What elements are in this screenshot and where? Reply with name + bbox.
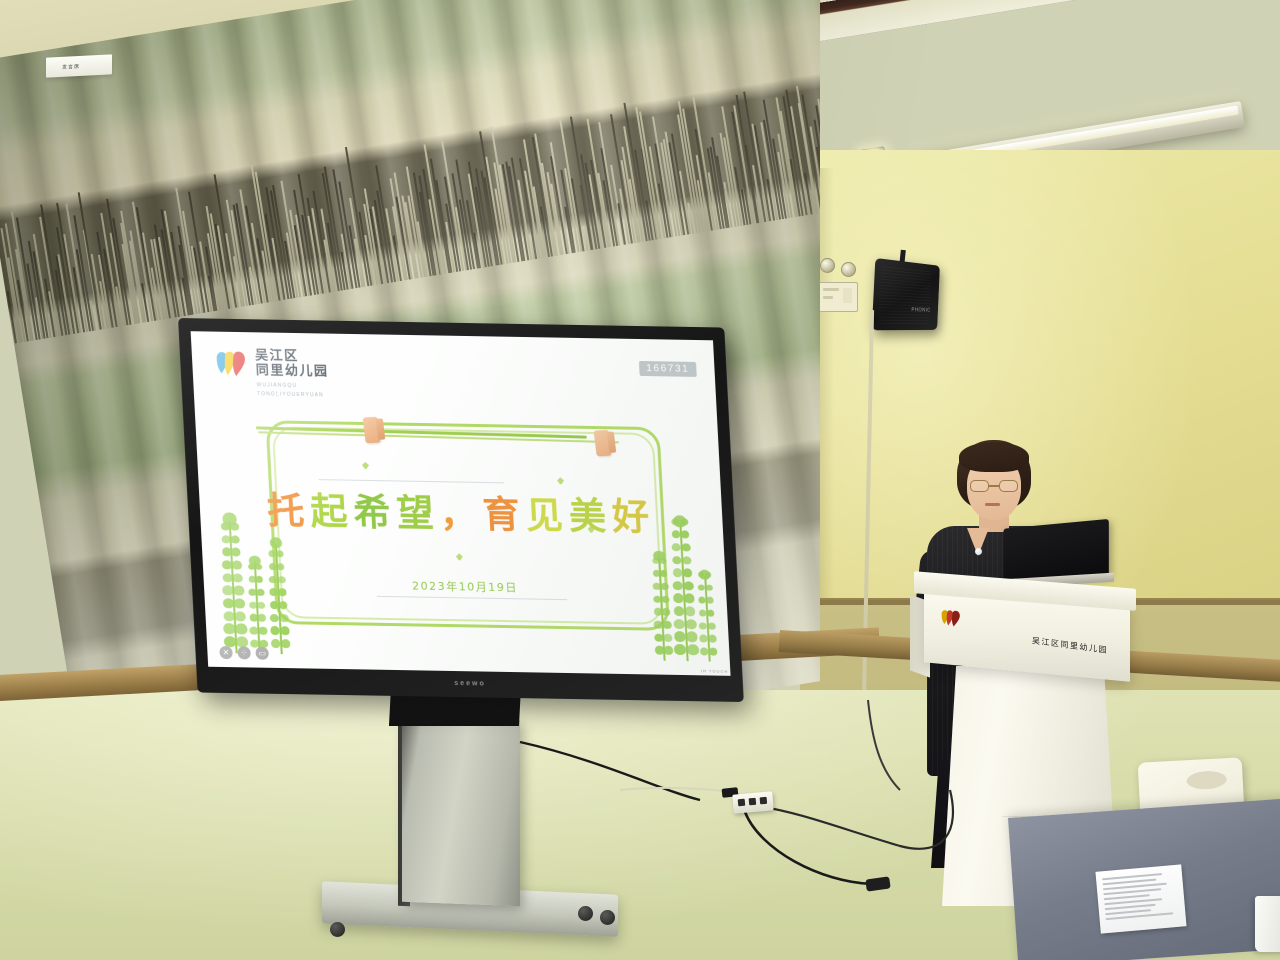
plant-leaf — [257, 601, 265, 608]
glasses-bridge — [989, 485, 999, 487]
slide-clip-right — [594, 430, 612, 457]
plant-leaf — [280, 626, 290, 635]
plant-leaf — [269, 563, 277, 570]
plant-leaf — [223, 598, 234, 608]
plant-leaf — [248, 589, 256, 596]
display-stand-column — [402, 716, 520, 907]
plant-leaf — [249, 601, 257, 608]
plant-leaf — [277, 576, 285, 584]
plant-leaf — [662, 608, 671, 616]
plant-leaf — [683, 581, 694, 590]
plant-leaf-top — [653, 550, 665, 561]
plant-leaf — [672, 568, 682, 577]
plant-leaf — [281, 639, 291, 648]
logo-line-2: 同里幼儿园 — [255, 364, 328, 381]
plant-leaf — [661, 595, 669, 602]
plant-leaf — [233, 586, 244, 596]
glasses-lens-right — [999, 480, 1018, 492]
plant-leaf — [664, 646, 674, 655]
plant-leaf — [680, 531, 689, 539]
plant-leaf — [653, 608, 662, 616]
paper-cup — [1255, 896, 1280, 952]
plant-leaf — [231, 548, 241, 557]
placard-text: 发言席 — [62, 63, 80, 71]
plant-leaf — [222, 548, 232, 557]
speaker-placard: 发言席 — [46, 54, 112, 77]
power-strip[interactable] — [732, 791, 774, 813]
plant-leaf — [258, 614, 267, 622]
plant-leaf — [686, 632, 698, 643]
plant-leaf — [249, 614, 258, 622]
wall-control-plate[interactable] — [818, 282, 858, 312]
interactive-display-panel[interactable]: 吴江区 同里幼儿园 WUJIANGQU TONGLIYOUERYUAN 1667… — [178, 318, 744, 702]
plant-leaf — [674, 631, 686, 642]
plant-leaf — [653, 583, 661, 590]
slide-plant-sprig — [650, 557, 673, 661]
plant-leaf — [663, 634, 672, 642]
presenter-pendant — [975, 548, 982, 555]
slide-title-char-6: 见 — [525, 494, 570, 538]
plant-leaf — [235, 611, 247, 622]
plant-leaf — [707, 610, 715, 617]
plant-leaf — [684, 594, 695, 604]
kindergarten-heart-logo-icon — [214, 348, 250, 380]
plant-leaf — [687, 644, 700, 655]
slide-plant-sprig — [669, 523, 697, 661]
plant-leaf — [269, 601, 278, 609]
plant-leaf — [661, 583, 669, 590]
stand-caster-mid — [578, 906, 593, 921]
slide-plant-sprig — [219, 521, 248, 653]
slide-toolbar[interactable]: ✕⁘▭ — [219, 646, 269, 660]
plant-leaf — [270, 626, 280, 635]
plant-leaf — [258, 627, 267, 635]
plant-leaf — [222, 560, 232, 569]
slide-logo: 吴江区 同里幼儿园 WUJIANGQU TONGLIYOUERYUAN — [214, 348, 330, 400]
slide-close-icon[interactable]: ✕ — [219, 646, 233, 659]
plant-leaf — [277, 563, 285, 570]
plant-leaf — [276, 550, 284, 557]
glasses-lens-left — [970, 480, 989, 492]
wall-speaker: PHONIC — [872, 258, 940, 330]
plant-leaf — [660, 570, 668, 577]
plant-leaf — [681, 543, 690, 551]
plant-leaf — [221, 535, 230, 543]
display-ir-label: IR TOUCH — [701, 668, 729, 673]
glasses-icon — [970, 480, 1018, 492]
slide-title-char-7: 美 — [568, 494, 613, 538]
plant-leaf — [222, 586, 233, 596]
plant-leaf — [672, 530, 681, 538]
plant-leaf — [268, 550, 276, 557]
presenter-mouth — [985, 503, 1000, 506]
plant-leaf — [673, 606, 684, 616]
plant-leaf — [234, 598, 245, 608]
table-document — [1095, 864, 1186, 933]
plant-leaf — [233, 573, 244, 582]
plant-leaf — [673, 581, 684, 590]
slide-title-char-5: 育 — [482, 493, 527, 537]
plant-leaf — [232, 561, 242, 570]
plant-leaf — [698, 584, 705, 590]
podium-logo-icon — [940, 607, 962, 629]
plant-leaf — [706, 597, 714, 604]
plant-leaf — [707, 622, 715, 629]
plant-leaf — [700, 648, 709, 656]
plant-stem — [274, 544, 282, 654]
plant-leaf — [682, 556, 692, 565]
slide-title-char-4: ， — [438, 492, 483, 536]
document-text-line — [1103, 888, 1161, 895]
slide-plants-right — [648, 523, 717, 662]
plant-leaf — [256, 576, 264, 583]
plant-leaf — [270, 639, 280, 648]
plant-leaf-top — [269, 537, 282, 548]
wall-gauge-2 — [841, 262, 856, 277]
slide-number-badge: 166731 — [639, 361, 697, 377]
plant-leaf — [278, 588, 287, 596]
plant-leaf — [223, 611, 235, 622]
plant-leaf — [256, 589, 264, 596]
chair-handle-cutout — [1186, 770, 1227, 790]
display-bezel: 吴江区 同里幼儿园 WUJIANGQU TONGLIYOUERYUAN 1667… — [178, 318, 744, 702]
stand-caster-right — [600, 910, 615, 925]
plant-leaf — [653, 595, 661, 602]
logo-pinyin-2: TONGLIYOUERYUAN — [257, 392, 330, 400]
slide-palette-icon[interactable]: ⁘ — [237, 646, 251, 659]
slide-title-char-3: 望 — [395, 491, 440, 535]
room-photo: PHONIC — [0, 0, 1280, 960]
logo-line-1: 吴江区 — [255, 348, 328, 365]
plant-leaf — [699, 622, 707, 629]
slide-annotate-icon[interactable]: ▭ — [255, 647, 269, 660]
plant-leaf — [673, 593, 684, 603]
presenter-fringe — [959, 442, 1029, 472]
plant-leaf — [705, 584, 712, 590]
slide-title-char-1: 起 — [309, 490, 354, 534]
logo-pinyin-1: WUJIANGQU — [256, 382, 329, 390]
plant-leaf — [279, 614, 289, 623]
plant-leaf — [654, 646, 664, 655]
plant-leaf — [708, 635, 717, 643]
plant-leaf — [674, 619, 686, 629]
plant-leaf — [223, 623, 235, 634]
plant-leaf — [682, 568, 692, 577]
presentation-slide: 吴江区 同里幼儿园 WUJIANGQU TONGLIYOUERYUAN 1667… — [191, 331, 731, 676]
stand-caster-left — [330, 922, 345, 937]
plant-leaf — [269, 588, 278, 596]
plant-leaf — [698, 597, 706, 604]
slide-logo-text: 吴江区 同里幼儿园 WUJIANGQU TONGLIYOUERYUAN — [255, 348, 330, 399]
plant-leaf — [654, 633, 663, 641]
plant-leaf — [663, 621, 672, 629]
plant-leaf — [674, 644, 687, 655]
plant-leaf — [699, 609, 707, 616]
plant-leaf — [709, 648, 718, 656]
plant-leaf — [652, 570, 660, 577]
plant-leaf — [249, 627, 258, 635]
speaker-brand-label: PHONIC — [911, 307, 930, 313]
plant-leaf — [279, 601, 288, 609]
plant-leaf — [672, 543, 681, 551]
wall-gauge-1 — [820, 258, 835, 273]
plant-leaf — [248, 576, 256, 583]
plant-leaf-top — [699, 570, 710, 580]
slide-title-char-2: 希 — [352, 491, 397, 535]
plant-leaf — [654, 621, 663, 629]
plant-leaf-top — [673, 515, 687, 527]
slide-plants-left — [219, 521, 291, 654]
display-screen[interactable]: 吴江区 同里幼儿园 WUJIANGQU TONGLIYOUERYUAN 1667… — [191, 331, 731, 676]
plant-leaf — [231, 535, 240, 543]
plant-leaf — [235, 624, 247, 635]
plant-leaf — [222, 573, 233, 582]
slide-plant-sprig — [246, 562, 269, 654]
plant-leaf — [684, 606, 695, 616]
plant-leaf-top — [249, 555, 261, 566]
plant-leaf-top — [222, 513, 236, 526]
plant-leaf — [270, 614, 280, 623]
laptop-screen[interactable] — [1003, 519, 1108, 582]
plant-leaf — [699, 635, 708, 643]
slide-clip-left — [363, 417, 381, 444]
plant-leaf — [685, 619, 697, 629]
